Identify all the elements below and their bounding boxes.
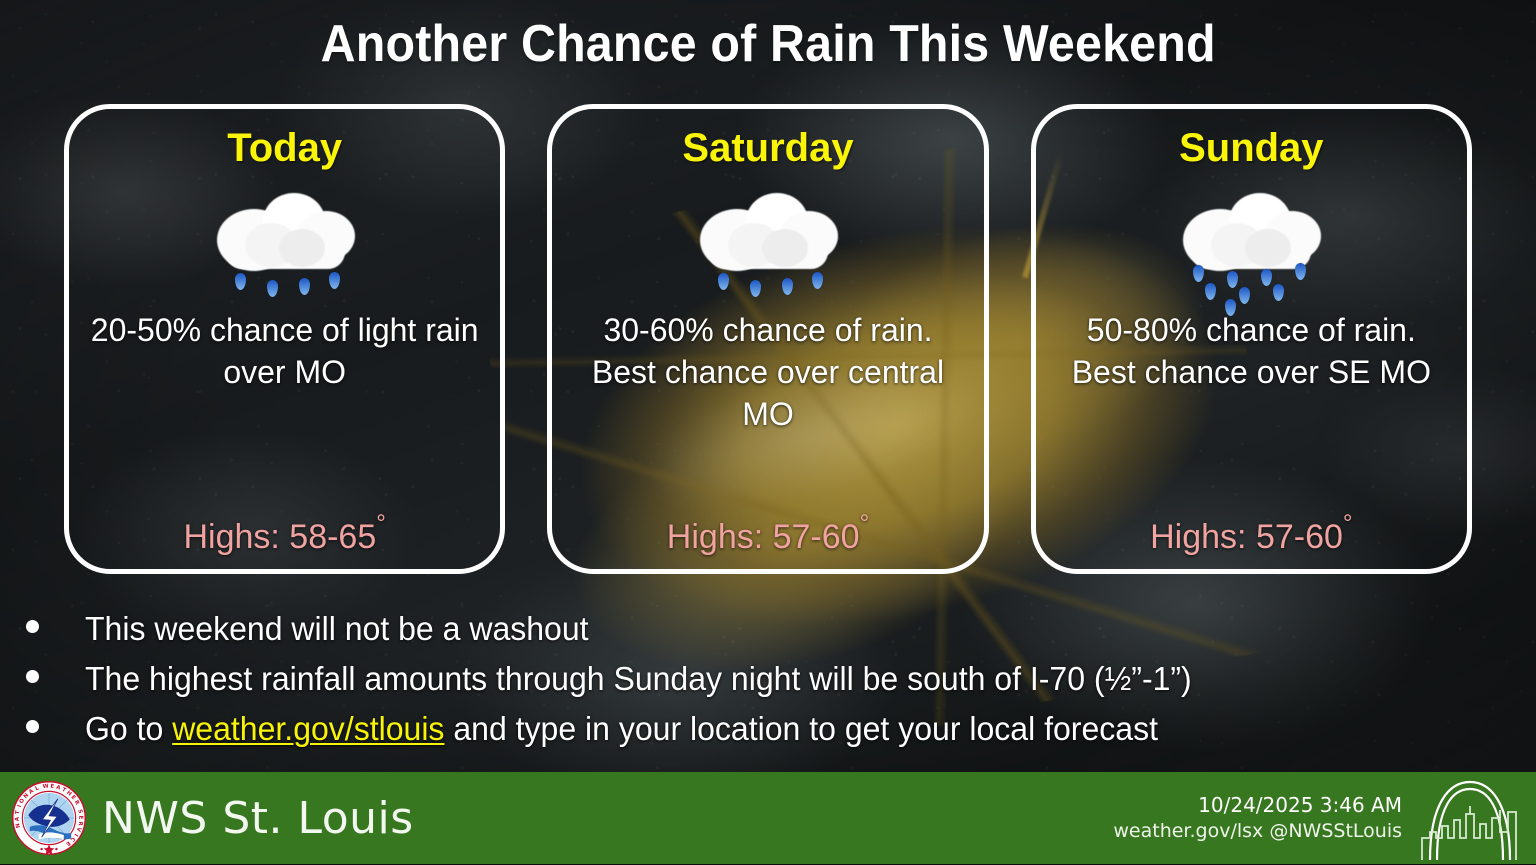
title-banner: Another Chance of Rain This Weekend [0, 0, 1536, 88]
bullet-dot-icon [26, 670, 39, 683]
forecast-day-label: Today [227, 125, 342, 171]
forecast-card-sunday[interactable]: Sunday 50-80% chance of rain. Best chanc… [1031, 104, 1472, 574]
gateway-arch-skyline-icon [1412, 776, 1528, 860]
forecast-day-label: Sunday [1179, 125, 1323, 171]
weather-gov-stlouis-link[interactable]: weather.gov/stlouis [172, 710, 444, 747]
svg-text:W: W [42, 784, 49, 791]
forecast-icon-saturday [688, 179, 848, 297]
forecast-day-label: Saturday [682, 125, 853, 171]
footer-stamp: 10/24/2025 3:46 AM weather.gov/lsx @NWSS… [1113, 792, 1402, 845]
forecast-card-today[interactable]: Today 20-50% chance of light rain over M… [64, 104, 505, 574]
office-identity: N A T I O N A L W E A T H E R S E [12, 781, 414, 855]
forecast-highs: Highs: 57-60° [1036, 510, 1467, 557]
nws-seal-logo-icon: N A T I O N A L W E A T H E R S E [12, 781, 86, 855]
bullet-text-pre: Go to [85, 710, 172, 747]
list-item: The highest rainfall amounts through Sun… [26, 656, 1536, 703]
bullet-text: Go to weather.gov/stlouis and type in yo… [85, 706, 1158, 753]
bullet-dot-icon [26, 620, 39, 633]
forecast-icon-sunday [1171, 179, 1331, 297]
svg-text:E: E [77, 816, 83, 820]
bullet-text: This weekend will not be a washout [85, 606, 589, 653]
degree-symbol: ° [1343, 510, 1353, 537]
key-points-list: This weekend will not be a washout The h… [0, 606, 1536, 756]
bullet-text: The highest rainfall amounts through Sun… [85, 656, 1192, 703]
forecast-card-row: Today 20-50% chance of light rain over M… [64, 104, 1472, 574]
bullet-dot-icon [26, 720, 39, 733]
list-item: This weekend will not be a washout [26, 606, 1536, 653]
forecast-highs-text: Highs: 57-60 [1150, 518, 1343, 556]
page-title: Another Chance of Rain This Weekend [320, 14, 1215, 74]
footer-bar: N A T I O N A L W E A T H E R S E [0, 772, 1536, 864]
cloud-with-light-rain-icon [688, 179, 848, 295]
cloud-with-light-rain-icon [205, 179, 365, 295]
forecast-description: 30-60% chance of rain. Best chance over … [552, 309, 983, 436]
forecast-description: 20-50% chance of light rain over MO [69, 309, 500, 393]
web-and-social-handles: weather.gov/lsx @NWSStLouis [1113, 819, 1402, 845]
office-name: NWS St. Louis [102, 793, 414, 844]
forecast-description: 50-80% chance of rain. Best chance over … [1036, 309, 1467, 393]
forecast-card-saturday[interactable]: Saturday 30-60% chance of rain. Best cha… [547, 104, 988, 574]
forecast-highs-text: Highs: 58-65 [183, 518, 376, 556]
forecast-highs: Highs: 58-65° [69, 510, 500, 557]
list-item: Go to weather.gov/stlouis and type in yo… [26, 706, 1536, 753]
cloud-with-heavy-rain-icon [1171, 179, 1331, 295]
forecast-highs-text: Highs: 57-60 [667, 518, 860, 556]
degree-symbol: ° [860, 510, 870, 537]
footer-right: 10/24/2025 3:46 AM weather.gov/lsx @NWSS… [1113, 776, 1536, 860]
bullet-text-post: and type in your location to get your lo… [444, 710, 1158, 747]
timestamp: 10/24/2025 3:46 AM [1113, 792, 1402, 819]
forecast-highs: Highs: 57-60° [552, 510, 983, 557]
forecast-icon-today [205, 179, 365, 297]
degree-symbol: ° [376, 510, 386, 537]
